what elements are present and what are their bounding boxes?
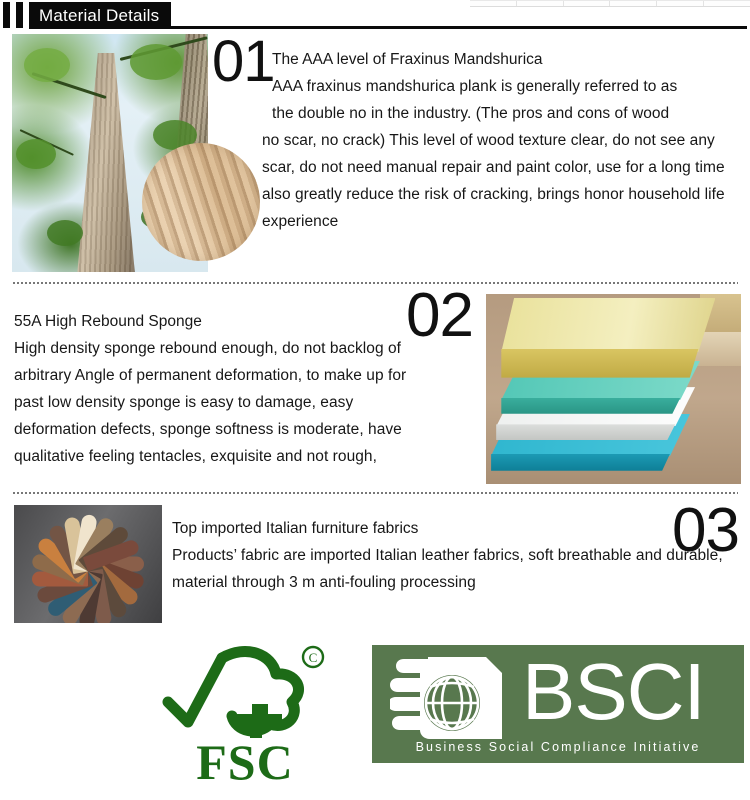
section-number-01: 01 xyxy=(212,36,275,88)
svg-text:C: C xyxy=(309,650,318,665)
leaf-cluster xyxy=(47,220,83,246)
section-body-01-line2: the double no in the industry. (The pros… xyxy=(272,100,746,127)
fsc-logo: C FSC xyxy=(150,640,340,792)
section-body-01: no scar, no crack) This level of wood te… xyxy=(262,127,748,235)
foam-photo xyxy=(486,294,741,484)
bsci-tagline: Business Social Compliance Initiative xyxy=(372,739,744,755)
section-body-01-line1: AAA fraxinus mandshurica plank is genera… xyxy=(272,73,746,100)
leaf-cluster xyxy=(24,48,70,82)
vertical-bars-icon xyxy=(16,2,23,28)
tree-trunk-main xyxy=(77,53,136,272)
header-rule xyxy=(29,26,747,29)
foam-top-face xyxy=(501,298,715,352)
foam-edge-face xyxy=(501,398,700,414)
bsci-logo: BSCI Business Social Compliance Initiati… xyxy=(372,645,744,763)
hand-globe-icon xyxy=(390,651,520,743)
section-title-02: 55A High Rebound Sponge xyxy=(14,308,202,335)
fsc-wordmark: FSC xyxy=(150,736,340,788)
section-divider xyxy=(12,282,738,284)
section-header: Material Details xyxy=(0,2,750,28)
foam-edge-face xyxy=(501,349,715,378)
section-title-03: Top imported Italian furniture fabrics xyxy=(172,515,418,542)
fabric-swatch-photo xyxy=(14,505,162,623)
section-divider xyxy=(12,492,738,494)
leaf-cluster xyxy=(16,139,56,169)
foam-sheet-yellow xyxy=(501,298,715,378)
page-title: Material Details xyxy=(29,2,171,28)
bsci-wordmark: BSCI xyxy=(522,649,742,735)
foam-edge-face xyxy=(491,454,690,471)
trademark-icon: C xyxy=(303,647,323,667)
section-number-03: 03 xyxy=(672,505,739,557)
material-details-page: Material Details 01 The AAA level of Fra… xyxy=(0,0,750,800)
fsc-tree-checkmark-icon: C xyxy=(150,640,340,740)
section-title-01: The AAA level of Fraxinus Mandshurica xyxy=(272,46,742,73)
wood-grain-sample-circle xyxy=(142,143,260,261)
section-body-02: High density sponge rebound enough, do n… xyxy=(14,335,434,470)
foam-edge-face xyxy=(496,424,695,440)
section-number-02: 02 xyxy=(406,290,473,342)
section-body-03: Products’ fabric are imported Italian le… xyxy=(172,542,742,596)
vertical-bars-icon xyxy=(3,2,10,28)
leaf-cluster xyxy=(130,44,182,80)
